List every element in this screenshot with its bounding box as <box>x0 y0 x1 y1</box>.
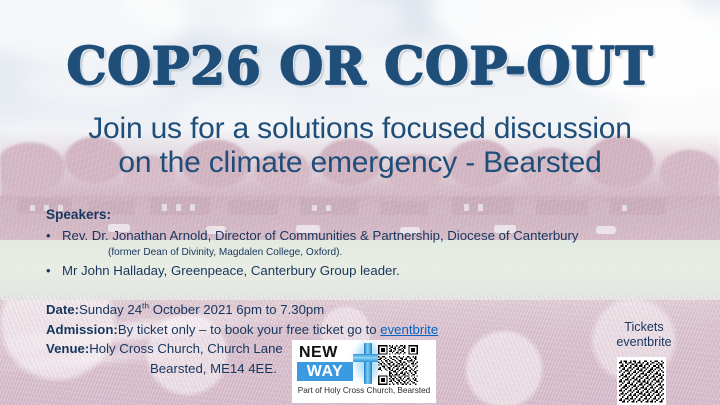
new-way-logo-card: NEW WAY <box>292 340 436 403</box>
speakers-heading: Speakers: <box>46 207 666 224</box>
qr-code-icon[interactable] <box>617 357 666 405</box>
date-row: Date:Sunday 24th October 2021 6pm to 7.3… <box>46 301 516 319</box>
date-value-pre: Sunday 24 <box>79 302 142 317</box>
poster-canvas: COP26 OR COP-OUT Join us for a solutions… <box>0 0 720 405</box>
logo-word-new: NEW <box>299 344 338 362</box>
qr-code-icon[interactable] <box>378 345 418 385</box>
poster-title: COP26 OR COP-OUT <box>11 41 709 93</box>
speaker-list-item: • Mr John Halladay, Greenpeace, Canterbu… <box>46 262 666 280</box>
date-value-post: October 2021 6pm to 7.30pm <box>149 302 324 317</box>
admission-row: Admission:By ticket only – to book your … <box>46 321 516 339</box>
venue-label: Venue: <box>46 341 89 356</box>
subtitle-line-2: on the climate emergency - Bearsted <box>0 146 720 180</box>
speaker-list-item: • Rev. Dr. Jonathan Arnold, Director of … <box>46 227 666 245</box>
event-details: Date:Sunday 24th October 2021 6pm to 7.3… <box>46 301 516 379</box>
tickets-label: Tickets <box>601 320 687 335</box>
admission-label: Admission: <box>46 322 118 337</box>
date-ordinal: th <box>142 301 149 311</box>
subtitle-line-1: Join us for a solutions focused discussi… <box>88 112 632 145</box>
speaker-note: (former Dean of Divinity, Magdalen Colle… <box>108 246 666 259</box>
speakers-section: Speakers: • Rev. Dr. Jonathan Arnold, Di… <box>46 207 666 281</box>
venue-line-2: Bearsted, ME14 4EE. <box>150 361 277 376</box>
poster-subtitle: Join us for a solutions focused discussi… <box>0 112 720 180</box>
venue-row: Venue:Holy Cross Church, Church Lane <box>46 340 516 358</box>
speaker-name-role: Mr John Halladay, Greenpeace, Canterbury… <box>62 262 666 280</box>
speaker-name-role: Rev. Dr. Jonathan Arnold, Director of Co… <box>62 227 666 245</box>
logo-word-way: WAY <box>297 362 353 381</box>
eventbrite-link[interactable]: eventbrite <box>380 322 438 337</box>
tickets-provider: eventbrite <box>601 335 687 350</box>
bullet-icon: • <box>46 227 62 245</box>
admission-value: By ticket only – to book your free ticke… <box>118 322 380 337</box>
date-label: Date: <box>46 302 79 317</box>
bullet-icon: • <box>46 262 62 280</box>
poster-content: COP26 OR COP-OUT Join us for a solutions… <box>0 0 720 405</box>
logo-caption: Part of Holy Cross Church, Bearsted <box>292 386 436 395</box>
tickets-callout: Tickets eventbrite <box>601 320 687 351</box>
venue-line-1: Holy Cross Church, Church Lane <box>89 341 283 356</box>
